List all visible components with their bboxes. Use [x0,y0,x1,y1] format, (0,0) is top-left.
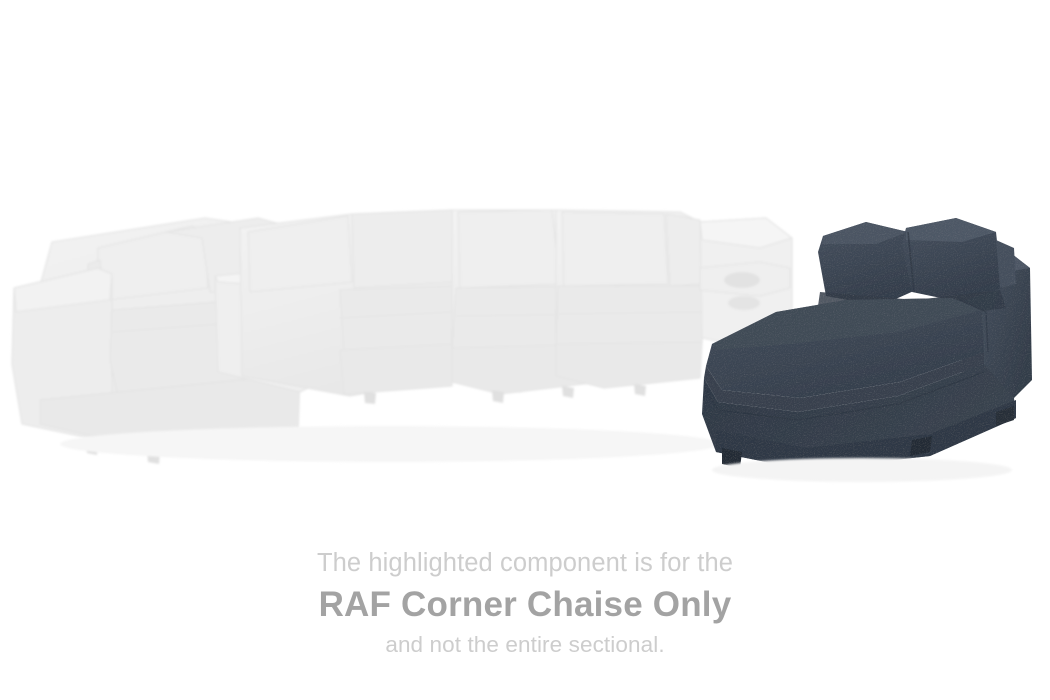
ghost-module-armless-chair-left [240,210,454,404]
ghosted-sectional-group [12,210,792,464]
caption-line-component-name: RAF Corner Chaise Only [0,582,1050,628]
modular-sectional-illustration [0,0,1050,520]
callout-caption: The highlighted component is for the RAF… [0,548,1050,659]
caption-line-bottom: and not the entire sectional. [0,631,1050,659]
ghost-contact-shadow [60,426,720,462]
ghost-module-armless-chair-right [556,210,704,396]
product-callout-image: The highlighted component is for the RAF… [0,0,1050,700]
caption-line-top: The highlighted component is for the [0,548,1050,578]
cupholder-icon [728,296,760,310]
cupholder-icon [724,272,760,288]
chaise-contact-shadow [712,458,1012,482]
